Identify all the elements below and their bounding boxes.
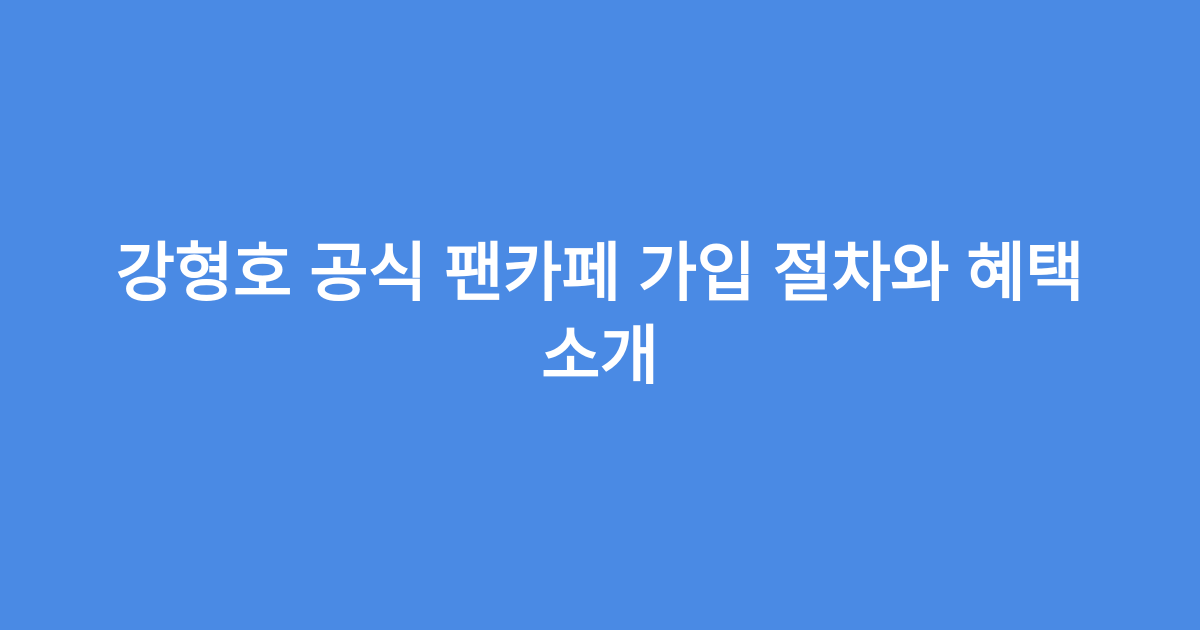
- card-content-wrapper: 강형호 공식 팬카페 가입 절차와 혜택 소개: [70, 232, 1130, 398]
- page-title: 강형호 공식 팬카페 가입 절차와 혜택 소개: [80, 232, 1120, 398]
- social-card-banner: 강형호 공식 팬카페 가입 절차와 혜택 소개: [0, 0, 1200, 630]
